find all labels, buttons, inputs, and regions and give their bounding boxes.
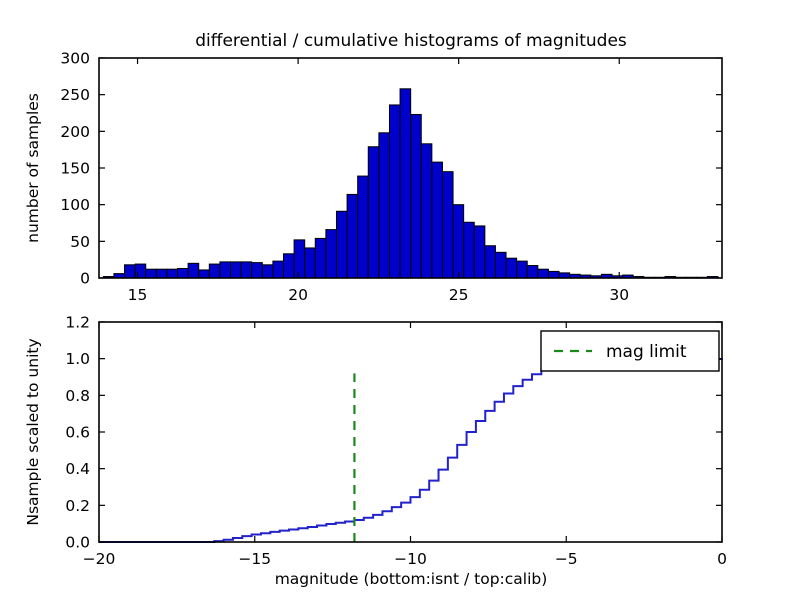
page-title: differential / cumulative histograms of … [195, 31, 627, 51]
histogram-bars [103, 89, 718, 278]
tick-label: 15 [128, 286, 148, 304]
histogram-bar [411, 114, 422, 278]
histogram-bar [453, 205, 464, 278]
histogram-bar [495, 252, 506, 278]
histogram-bar [421, 144, 432, 278]
histogram-bar [368, 147, 379, 278]
tick-label: −20 [83, 550, 116, 568]
histogram-bar [527, 266, 538, 278]
histogram-bar [336, 211, 347, 278]
histogram-bar [400, 89, 411, 278]
legend-mag-limit-label: mag limit [606, 342, 687, 362]
histogram-bar [474, 226, 485, 278]
tick-label: 250 [60, 86, 90, 104]
bottom-axes: 0.00.20.40.60.81.01.2 −20−15−10−50 Nsamp… [24, 314, 727, 589]
histogram-bar [442, 172, 453, 278]
histogram-bar [315, 238, 326, 278]
tick-label: −15 [238, 550, 271, 568]
tick-label: 100 [60, 196, 90, 214]
histogram-bar [241, 262, 252, 278]
legend[interactable]: mag limit [541, 331, 719, 371]
tick-label: 0.2 [65, 497, 90, 515]
histogram-bar [347, 194, 358, 278]
tick-label: 200 [60, 123, 90, 141]
histogram-bar [538, 269, 549, 278]
histogram-bar [506, 258, 517, 278]
tick-label: 20 [288, 286, 308, 304]
histogram-bar [326, 230, 337, 278]
histogram-bar [125, 265, 136, 278]
histogram-bar [262, 265, 273, 278]
histogram-bar [294, 240, 305, 278]
tick-label: 0.4 [65, 460, 90, 478]
histogram-bar [379, 133, 390, 278]
histogram-bar [209, 264, 220, 278]
figure-canvas: differential / cumulative histograms of … [0, 0, 800, 600]
tick-label: 25 [449, 286, 469, 304]
tick-label: 0.0 [65, 534, 90, 552]
histogram-bar [135, 264, 146, 278]
top-axes: differential / cumulative histograms of … [24, 31, 722, 304]
histogram-bar [464, 222, 475, 278]
tick-label: 1.0 [65, 350, 90, 368]
histogram-bar [358, 176, 369, 278]
histogram-bar [517, 261, 528, 278]
histogram-bar [485, 246, 496, 278]
histogram-bar [231, 262, 242, 278]
tick-label: 50 [70, 233, 90, 251]
chart-svg: differential / cumulative histograms of … [0, 0, 800, 600]
top-y-axis-label: number of samples [24, 93, 42, 243]
tick-label: 300 [60, 50, 90, 68]
histogram-bar [389, 105, 400, 278]
histogram-bar [178, 268, 189, 278]
tick-label: 150 [60, 160, 90, 178]
bottom-y-axis-label: Nsample scaled to unity [24, 338, 42, 525]
tick-label: 1.2 [65, 314, 90, 332]
tick-label: −10 [394, 550, 427, 568]
bottom-x-axis-label: magnitude (bottom:isnt / top:calib) [275, 570, 548, 588]
tick-label: −5 [555, 550, 578, 568]
histogram-bar [252, 263, 263, 278]
histogram-bar [548, 271, 559, 278]
histogram-bar [220, 262, 231, 278]
histogram-bar [199, 270, 210, 278]
tick-label: 0 [717, 550, 727, 568]
histogram-bar [188, 263, 199, 278]
tick-label: 0.6 [65, 424, 90, 442]
histogram-bar [146, 269, 157, 278]
tick-label: 0.8 [65, 387, 90, 405]
histogram-bar [167, 269, 178, 278]
histogram-bar [305, 248, 316, 278]
histogram-bar [156, 269, 167, 278]
histogram-bar [432, 162, 443, 278]
histogram-bar [283, 254, 294, 278]
tick-label: 0 [80, 270, 90, 288]
cumulative-curve [99, 359, 722, 542]
tick-label: 30 [609, 286, 629, 304]
histogram-bar [273, 261, 284, 278]
